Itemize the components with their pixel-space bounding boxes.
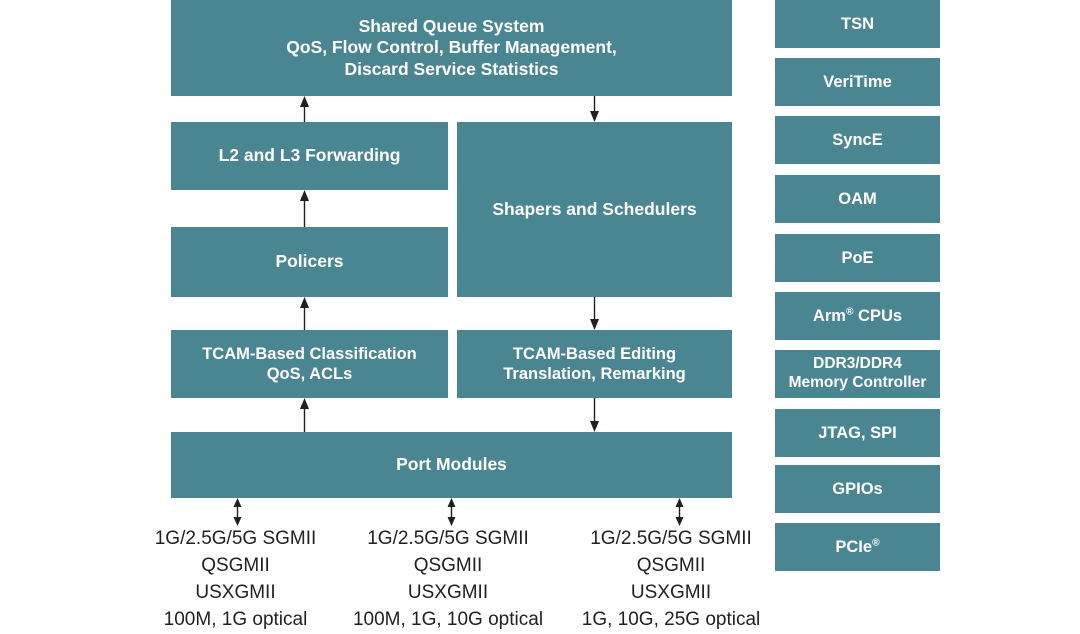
feature-block-arm-cpus[interactable]: Arm® CPUs [775,292,940,340]
feature-block-label: TSN [841,14,874,34]
feature-block-label: GPIOs [832,479,882,499]
interface-label-group-0: 1G/2.5G/5G SGMIIQSGMIIUSXGMII100M, 1G op… [128,526,343,634]
arrow-policers-to-l2l3-icon [298,190,311,227]
arrow-l2l3-to-shared-queue-icon [298,96,311,122]
shared-queue-line-3: Discard Service Statistics [286,59,617,80]
interface-label-0-line-3: 100M, 1G optical [128,607,343,634]
interface-label-1-line-3: 100M, 1G, 10G optical [338,607,558,634]
interface-label-0-line-1: QSGMII [128,553,343,580]
feature-block-label: SyncE [832,130,882,150]
block-policers[interactable]: Policers [171,227,448,297]
interface-label-group-1: 1G/2.5G/5G SGMIIQSGMIIUSXGMII100M, 1G, 1… [338,526,558,634]
feature-block-ddr3-ddr4-memory-controller[interactable]: DDR3/DDR4Memory Controller [775,350,940,398]
feature-block-label: DDR3/DDR4Memory Controller [789,355,927,393]
feature-block-label: Arm® CPUs [813,306,902,326]
feature-block-label: PoE [841,248,873,268]
interface-label-0-line-0: 1G/2.5G/5G SGMII [128,526,343,553]
tcam-classification-line-2: QoS, ACLs [202,364,417,384]
feature-block-pcie[interactable]: PCIe® [775,523,940,571]
feature-block-poe[interactable]: PoE [775,234,940,282]
diagram-canvas: Shared Queue System QoS, Flow Control, B… [0,0,1080,633]
interface-label-2-line-2: USXGMII [560,580,782,607]
interface-label-1-line-2: USXGMII [338,580,558,607]
block-shared-queue-system[interactable]: Shared Queue System QoS, Flow Control, B… [171,0,732,96]
port-link-arrow-1-icon [445,498,458,526]
registered-trademark-icon: ® [872,537,880,548]
feature-block-gpios[interactable]: GPIOs [775,465,940,513]
tcam-editing-line-1: TCAM-Based Editing [503,344,685,364]
l2-l3-forwarding-label: L2 and L3 Forwarding [219,145,401,166]
policers-label: Policers [275,251,343,272]
arrow-port-modules-to-tcam-classification-icon [298,398,311,432]
feature-block-jtag-spi[interactable]: JTAG, SPI [775,409,940,457]
feature-block-veritime[interactable]: VeriTime [775,58,940,106]
interface-label-2-line-3: 1G, 10G, 25G optical [560,607,782,634]
interface-label-2-line-1: QSGMII [560,553,782,580]
port-modules-label: Port Modules [396,454,507,475]
port-link-arrow-0-icon [231,498,244,526]
interface-label-1-line-0: 1G/2.5G/5G SGMII [338,526,558,553]
port-link-arrow-2-icon [673,498,686,526]
interface-label-group-2: 1G/2.5G/5G SGMIIQSGMIIUSXGMII1G, 10G, 25… [560,526,782,634]
shapers-schedulers-label: Shapers and Schedulers [492,199,696,220]
interface-label-1-line-1: QSGMII [338,553,558,580]
registered-trademark-icon: ® [846,306,854,317]
shared-queue-line-2: QoS, Flow Control, Buffer Management, [286,37,617,58]
block-shapers-and-schedulers[interactable]: Shapers and Schedulers [457,122,732,297]
interface-label-2-line-0: 1G/2.5G/5G SGMII [560,526,782,553]
tcam-editing-line-2: Translation, Remarking [503,364,685,384]
feature-block-label: VeriTime [823,72,892,92]
feature-block-tsn[interactable]: TSN [775,0,940,48]
arrow-shared-queue-to-shapers-icon [588,96,601,122]
shared-queue-line-1: Shared Queue System [286,16,617,37]
feature-block-oam[interactable]: OAM [775,175,940,223]
tcam-classification-line-1: TCAM-Based Classification [202,344,417,364]
arrow-shapers-to-tcam-editing-icon [588,297,601,330]
feature-block-label: JTAG, SPI [818,423,897,443]
block-tcam-based-editing[interactable]: TCAM-Based Editing Translation, Remarkin… [457,330,732,398]
block-l2-and-l3-forwarding[interactable]: L2 and L3 Forwarding [171,122,448,190]
feature-block-label: OAM [838,189,877,209]
feature-block-label: PCIe® [835,537,879,557]
interface-label-0-line-2: USXGMII [128,580,343,607]
feature-block-synce[interactable]: SyncE [775,116,940,164]
arrow-tcam-class-to-policers-icon [298,297,311,330]
block-tcam-based-classification[interactable]: TCAM-Based Classification QoS, ACLs [171,330,448,398]
arrow-tcam-editing-to-port-modules-icon [588,398,601,432]
block-port-modules[interactable]: Port Modules [171,432,732,498]
